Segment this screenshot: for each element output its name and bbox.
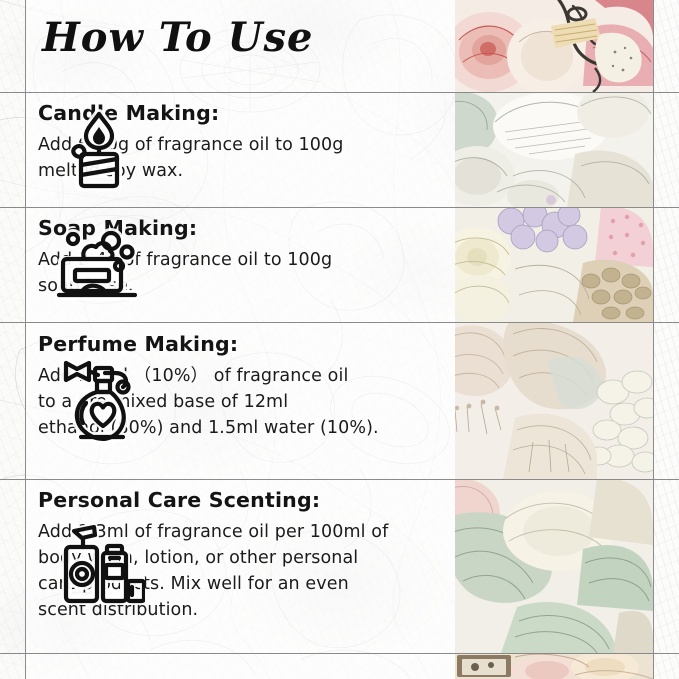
perfume-bottle-icon-container [0, 322, 198, 479]
right-margin-strip [653, 0, 679, 679]
photo-band-leaves [455, 479, 653, 653]
photo-band-bottom-detail [455, 653, 653, 679]
floral-photo-column [455, 0, 653, 679]
soap-bar-icon [55, 225, 143, 305]
perfume-bottle-icon [53, 355, 145, 447]
right-vertical-rule [653, 0, 654, 679]
photo-band-roses-top [455, 0, 653, 92]
page-title: How To Use [42, 14, 442, 61]
photo-band-berries [455, 207, 653, 322]
divider-after-personal [0, 653, 679, 654]
photo-band-magnolia [455, 92, 653, 207]
soap-bar-icon-container [0, 207, 198, 322]
personal-care-products-icon-container [0, 479, 198, 653]
candle-icon-container [0, 92, 198, 207]
candle-icon [60, 108, 138, 192]
photo-band-blossoms [455, 322, 653, 479]
how-to-use-infographic: How To Use Candle Making: Add 6-10g of f… [0, 0, 679, 679]
personal-care-products-icon [53, 524, 145, 608]
